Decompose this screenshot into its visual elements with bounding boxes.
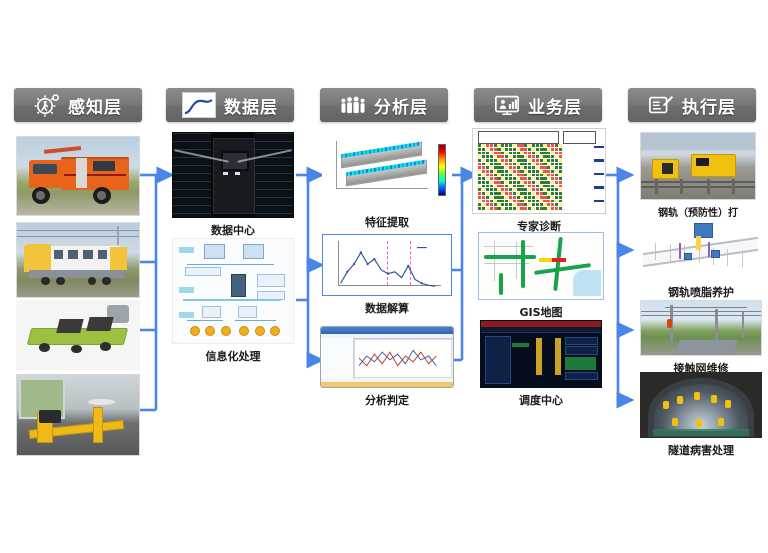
data-curve-icon (182, 92, 216, 118)
yellow-rail-inspection-car-photo (16, 222, 140, 298)
green-track-trolley-cad (16, 300, 140, 370)
layer-header-business[interactable]: 业务层 (474, 88, 602, 122)
node-data-solving[interactable]: 数据解算 (322, 234, 452, 296)
node-caption: 调度中心 (519, 392, 563, 408)
node-rail-greasing[interactable]: 钢轨喷脂养护 (640, 218, 762, 280)
dispatch-center-screen (480, 320, 602, 388)
layer-header-label: 数据层 (224, 93, 278, 118)
node-caption: 隧道病害处理 (668, 442, 734, 458)
node-rail-inspection-car[interactable] (16, 222, 140, 298)
node-rail-grinding[interactable]: 钢轨（预防性）打 (640, 132, 756, 200)
node-tunnel-defect-treatment[interactable]: 隧道病害处理 (640, 372, 762, 438)
rail-greasing-cad (640, 218, 762, 280)
tunnel-defect-treatment-photo (640, 372, 762, 438)
clipboard-pen-icon (648, 93, 674, 117)
node-caption: 信息化处理 (206, 348, 261, 364)
node-caption: 数据中心 (211, 222, 255, 238)
gear-person-icon (34, 93, 60, 117)
people-group-icon (340, 93, 366, 117)
presentation-chart-icon (494, 93, 520, 117)
line-chart-plot (322, 234, 452, 296)
diagram-canvas: 感知层 数据层 分析层 (0, 0, 768, 553)
node-measuring-frame[interactable] (16, 374, 140, 456)
3d-waterfall-feature-plot (322, 132, 452, 210)
layer-header-execution[interactable]: 执行层 (628, 88, 756, 122)
node-gis-map[interactable]: GIS地图 (478, 232, 604, 300)
analysis-software-screenshot (320, 326, 454, 388)
node-caption: 数据解算 (365, 300, 409, 316)
node-caption: GIS地图 (519, 304, 562, 320)
node-caption: 钢轨喷脂养护 (668, 284, 734, 300)
layer-header-label: 分析层 (374, 93, 428, 118)
node-catenary-maintenance[interactable]: 接触网维修 (640, 300, 762, 356)
yellow-measuring-frame-photo (16, 374, 140, 456)
node-caption: 特征提取 (365, 214, 409, 230)
layer-header-label: 感知层 (68, 93, 122, 118)
layer-header-perception[interactable]: 感知层 (14, 88, 142, 122)
information-processing-diagram (172, 238, 294, 344)
catenary-maintenance-photo (640, 300, 762, 356)
node-analysis-judgement[interactable]: 分析判定 (320, 326, 454, 388)
node-track-trolley[interactable] (16, 300, 140, 370)
layer-header-label: 执行层 (682, 93, 736, 118)
rail-grinding-machine-photo (640, 132, 756, 200)
inspection-truck-photo (16, 136, 140, 216)
layer-header-data[interactable]: 数据层 (166, 88, 294, 122)
node-data-center[interactable]: 数据中心 (172, 132, 294, 218)
expert-diagnosis-table (472, 128, 606, 214)
node-feature-extraction[interactable]: 特征提取 (322, 132, 452, 210)
node-expert-diagnosis[interactable]: 专家诊断 (472, 128, 606, 214)
node-inspection-truck[interactable] (16, 136, 140, 216)
node-dispatch-center[interactable]: 调度中心 (480, 320, 602, 388)
data-center-photo (172, 132, 294, 218)
gis-map (478, 232, 604, 300)
node-caption: 分析判定 (365, 392, 409, 408)
layer-header-analysis[interactable]: 分析层 (320, 88, 448, 122)
layer-header-label: 业务层 (528, 93, 582, 118)
node-caption: 钢轨（预防性）打 (658, 204, 738, 219)
node-information-processing[interactable]: 信息化处理 (172, 238, 294, 344)
